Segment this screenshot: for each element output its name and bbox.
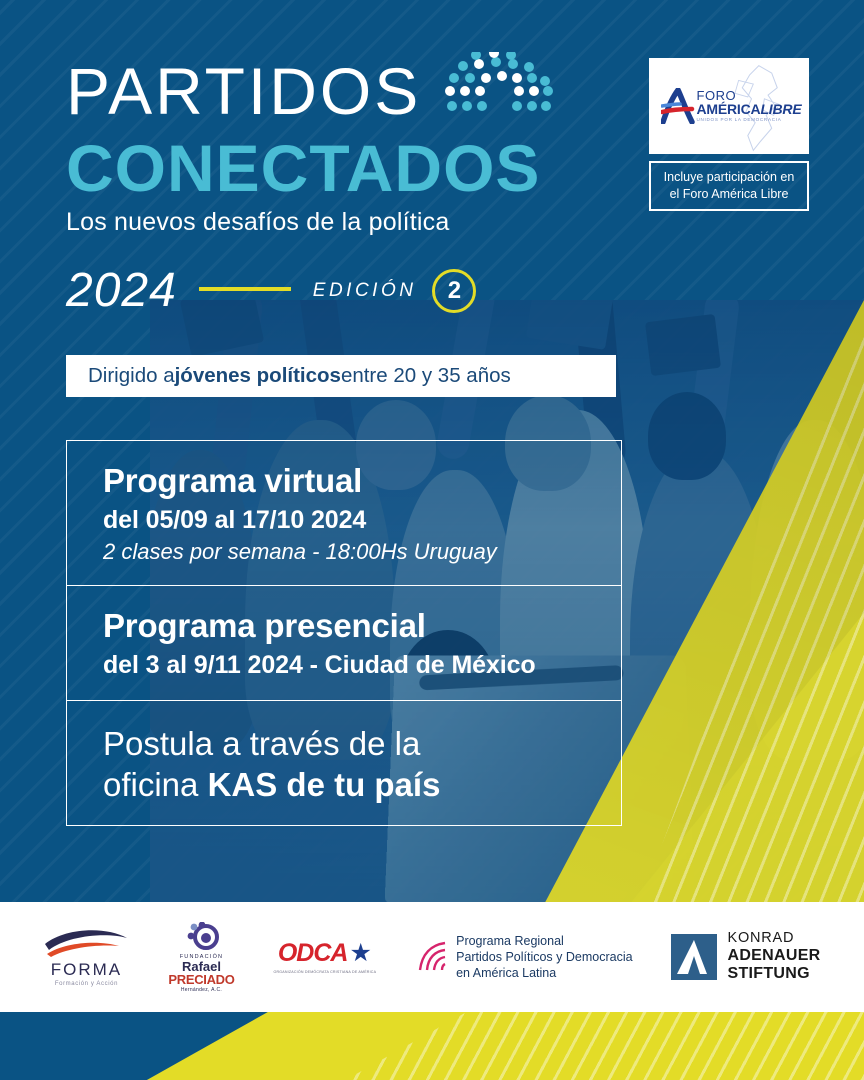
- panel-programa-presencial: Programa presencial del 3 al 9/11 2024 -…: [67, 585, 621, 700]
- panel-virtual-title: Programa virtual: [103, 463, 621, 500]
- poster-root: PARTIDOS: [0, 0, 864, 1080]
- kas-line2: ADENAUER: [727, 947, 820, 965]
- footer-logo-strip: FORMA Formación y Acción FUNDACIÓN Rafae…: [0, 902, 864, 1012]
- foro-america-libre-logo: FORO AMÉRICALIBRE UNIDOS POR LA DEMOCRAC…: [649, 58, 809, 154]
- foro-caption-line1: Incluye participación en: [655, 169, 803, 186]
- bottom-band: [0, 1012, 864, 1080]
- logo-rafael-preciado: FUNDACIÓN Rafael PRECIADO Hernández, A.C…: [168, 922, 234, 993]
- programa-regional-line2: Partidos Políticos y Democracia: [456, 949, 632, 965]
- edition-number-badge: 2: [432, 269, 476, 313]
- title-conectados: CONECTADOS: [66, 133, 626, 204]
- logo-konrad-adenauer-stiftung: KONRAD ADENAUER STIFTUNG: [671, 931, 820, 982]
- year-label: 2024: [66, 263, 177, 318]
- program-panels: Programa virtual del 05/09 al 17/10 2024…: [66, 440, 622, 826]
- programa-regional-line1: Programa Regional: [456, 933, 632, 949]
- odca-star-icon: ★: [349, 938, 371, 968]
- logo-forma: FORMA Formación y Acción: [43, 928, 129, 987]
- foro-participation-caption: Incluye participación en el Foro América…: [649, 161, 809, 211]
- panel-presencial-title: Programa presencial: [103, 608, 621, 645]
- audience-text-bold: jóvenes políticos: [175, 364, 341, 388]
- title-partidos: PARTIDOS: [66, 58, 421, 124]
- kas-line3: STIFTUNG: [727, 965, 820, 983]
- audience-banner: Dirigido a jóvenes políticos entre 20 y …: [66, 355, 616, 397]
- year-edition-row: 2024 EDICIÓN 2: [66, 263, 626, 318]
- foro-america-libre-badge: FORO AMÉRICALIBRE UNIDOS POR LA DEMOCRAC…: [649, 58, 809, 211]
- foro-caption-line2: el Foro América Libre: [655, 186, 803, 203]
- kas-line1: KONRAD: [727, 931, 820, 947]
- hemicycle-dots-icon: [444, 52, 554, 119]
- panel-postula-line1: Postula a través de la: [103, 723, 621, 764]
- forma-name: FORMA: [51, 960, 122, 980]
- logo-odca: ODCA ★ ORGANIZACIÓN DEMÓCRATA CRISTIANA …: [273, 938, 376, 975]
- kas-square-icon: [671, 934, 717, 980]
- year-divider-rule: [199, 287, 291, 291]
- audience-text-after: entre 20 y 35 años: [341, 364, 511, 388]
- rafael-preciado-preciado: PRECIADO: [168, 973, 234, 986]
- panel-presencial-dates: del 3 al 9/11 2024 - Ciudad de México: [103, 651, 621, 680]
- america-libre-word: AMÉRICALIBRE: [697, 102, 802, 116]
- panel-postula-line2: oficina KAS de tu país: [103, 764, 621, 805]
- panel-programa-virtual: Programa virtual del 05/09 al 17/10 2024…: [67, 441, 621, 585]
- forma-tagline: Formación y Acción: [55, 981, 118, 987]
- rafael-preciado-rafael: Rafael: [182, 960, 221, 973]
- panel-postula-line2-normal: oficina: [103, 766, 208, 803]
- panel-virtual-dates: del 05/09 al 17/10 2024: [103, 506, 621, 535]
- panel-postula-line2-bold: KAS de tu país: [208, 766, 441, 803]
- panel-postula: Postula a través de la oficina KAS de tu…: [67, 700, 621, 826]
- foro-tagline: UNIDOS POR LA DEMOCRACIA: [697, 118, 802, 123]
- foro-a-mark-icon: [661, 88, 695, 124]
- rafael-preciado-hernandez: Hernández, A.C.: [181, 987, 222, 993]
- title-block: PARTIDOS: [66, 52, 626, 318]
- programa-regional-arcs-icon: [415, 940, 449, 974]
- logo-programa-regional: Programa Regional Partidos Políticos y D…: [415, 933, 632, 981]
- odca-subtext: ORGANIZACIÓN DEMÓCRATA CRISTIANA DE AMÉR…: [273, 970, 376, 975]
- odca-name: ODCA: [278, 939, 348, 968]
- audience-text-before: Dirigido a: [88, 364, 175, 388]
- rafael-preciado-mark-icon: [181, 922, 221, 952]
- programa-regional-line3: en América Latina: [456, 965, 632, 981]
- forma-swoosh-icon: [43, 928, 129, 958]
- subtitle: Los nuevos desafíos de la política: [66, 208, 626, 237]
- panel-virtual-note: 2 clases por semana - 18:00Hs Uruguay: [103, 539, 621, 565]
- edition-label: EDICIÓN: [313, 280, 417, 302]
